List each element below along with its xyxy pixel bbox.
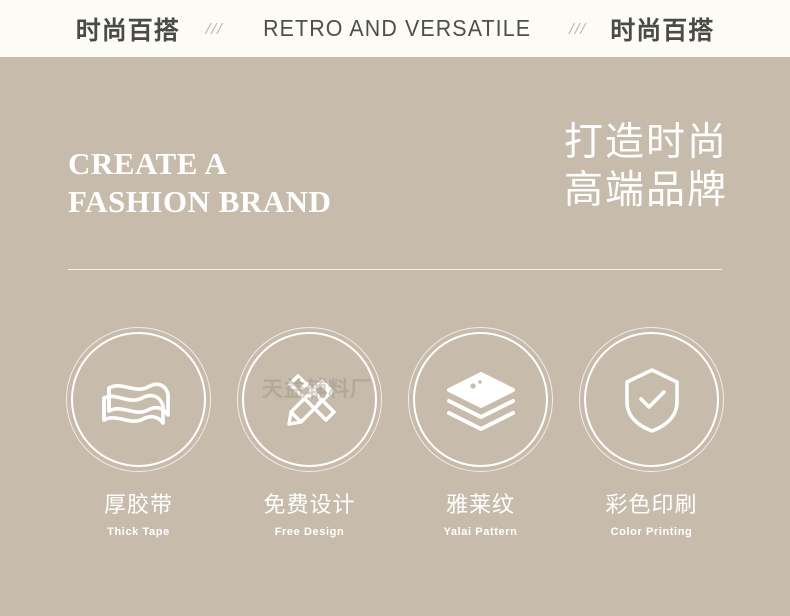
feature-item-thick-tape: 厚胶带 Thick Tape — [53, 332, 224, 538]
shield-check-icon — [621, 366, 683, 434]
feature-label-chinese: 免费设计 — [263, 494, 355, 516]
section-divider — [68, 269, 722, 270]
hero-chinese-line-2: 高端品牌 — [564, 167, 728, 215]
feature-label-english: Color Printing — [611, 527, 693, 538]
hero-chinese-line-1: 打造时尚 — [564, 121, 728, 164]
layers-stack-icon — [445, 368, 517, 432]
header-slash-separator-right: /// — [569, 19, 586, 39]
header-right-chinese-title: 时尚百搭 — [610, 11, 714, 47]
feature-item-color-printing: 彩色印刷 Color Printing — [566, 332, 737, 538]
main-panel: CREATE A FASHION BRAND 打造时尚 高端品牌 — [0, 57, 790, 616]
feature-icon-circle — [413, 332, 548, 467]
header-slash-separator-left: /// — [206, 19, 223, 39]
feature-list: 厚胶带 Thick Tape — [0, 332, 790, 538]
feature-label-chinese: 彩色印刷 — [605, 494, 697, 516]
promo-banner: 时尚百搭 /// RETRO AND VERSATILE /// 时尚百搭 CR… — [0, 0, 790, 616]
hero-english-line-1: CREATE A — [68, 146, 227, 181]
wavy-tape-icon — [102, 370, 176, 430]
header-left-chinese-title: 时尚百搭 — [76, 11, 180, 47]
feature-label-english: Yalai Pattern — [444, 527, 518, 538]
feature-label-chinese: 雅莱纹 — [446, 494, 515, 516]
hero-chinese-headline: 打造时尚 高端品牌 — [564, 119, 728, 215]
feature-icon-circle — [584, 332, 719, 467]
feature-label-chinese: 厚胶带 — [104, 494, 173, 516]
header-center-english-title: RETRO AND VERSATILE — [263, 15, 531, 42]
banner-header: 时尚百搭 /// RETRO AND VERSATILE /// 时尚百搭 — [0, 0, 790, 57]
hero-english-headline: CREATE A FASHION BRAND — [68, 145, 331, 221]
feature-label-english: Free Design — [275, 527, 345, 538]
feature-item-free-design: 免费设计 Free Design — [224, 332, 395, 538]
pencil-ruler-icon — [276, 366, 344, 434]
hero-english-line-2: FASHION BRAND — [68, 183, 331, 221]
feature-label-english: Thick Tape — [107, 527, 170, 538]
feature-icon-circle — [71, 332, 206, 467]
feature-icon-circle — [242, 332, 377, 467]
feature-item-yalai-pattern: 雅莱纹 Yalai Pattern — [395, 332, 566, 538]
